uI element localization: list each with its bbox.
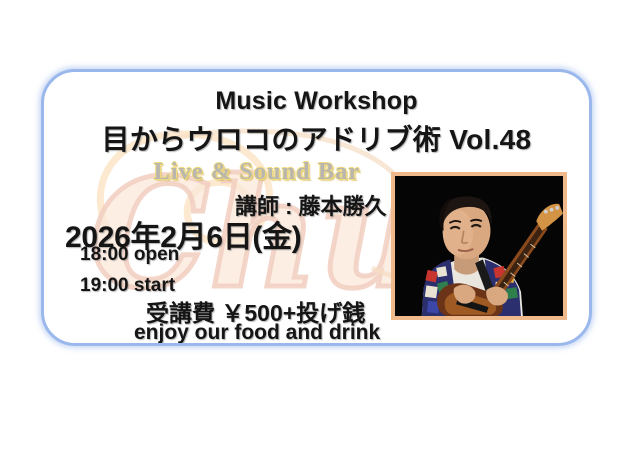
- flyer-card: Chur Chur Music Workshop 目からウロコのアドリブ術 Vo…: [41, 69, 592, 346]
- venue-logo: Live & Sound Bar: [107, 159, 407, 186]
- food-drink-note: enjoy our food and drink: [134, 321, 380, 345]
- artist-photo: [391, 172, 567, 320]
- flyer-root: Chur Chur Music Workshop 目からウロコのアドリブ術 Vo…: [0, 0, 640, 452]
- page-subtitle: 目からウロコのアドリブ術 Vol.48: [44, 118, 589, 158]
- open-time: 18:00 open: [80, 244, 179, 266]
- page-title: Music Workshop: [44, 87, 589, 116]
